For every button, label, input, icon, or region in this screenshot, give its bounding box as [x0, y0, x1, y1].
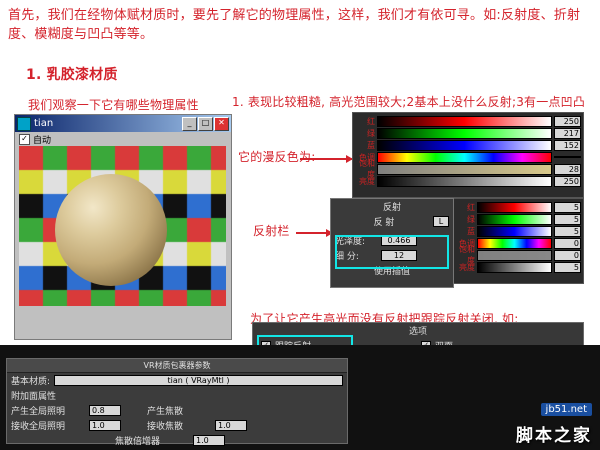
hue-gradient-bar[interactable] — [477, 238, 552, 249]
caustics-multiplier-value[interactable]: 1.0 — [193, 435, 225, 446]
vray-wrapper-header: VR材质包裹器参数 — [7, 359, 347, 373]
tutorial-intro-text: 首先，我们在经物体赋材质时，要先了解它的物理属性，这样，我们才有依可寻。如:反射… — [8, 6, 592, 44]
maximize-button[interactable]: □ — [198, 117, 213, 131]
material-editor-window[interactable]: tian _ □ ✕ ✓ 自动 — [14, 114, 232, 340]
color-row[interactable]: 绿 5 — [455, 214, 581, 224]
watermark-site: 脚本之家 — [516, 421, 592, 446]
reflect-color-panel[interactable]: 红 5 绿 5 蓝 5 色调 0 饱和度 0 亮度 5 — [452, 198, 584, 284]
value-gradient-bar[interactable] — [377, 176, 552, 187]
color-row[interactable]: 色调 — [355, 152, 581, 162]
material-icon — [17, 117, 31, 131]
blue-value[interactable]: 152 — [554, 140, 581, 151]
green-value[interactable]: 217 — [554, 128, 581, 139]
green-value[interactable]: 5 — [554, 214, 581, 225]
mode-label: 亮度 — [455, 262, 477, 273]
watermark-badge: jb51.net — [541, 403, 592, 416]
color-row[interactable]: 饱和度 28 — [355, 164, 581, 174]
brightness-value[interactable]: 5 — [554, 262, 581, 273]
tutorial-properties-text: 1. 表现比较粗糙, 高光范围较大;2基本上没什么反射;3有一点凹凸 — [232, 94, 592, 111]
green-gradient-bar[interactable] — [377, 128, 552, 139]
hue-value[interactable] — [554, 156, 581, 158]
window-titlebar[interactable]: tian _ □ ✕ — [15, 115, 231, 132]
red-value[interactable]: 250 — [554, 116, 581, 127]
window-bottom-bar — [15, 306, 231, 326]
auto-update-row[interactable]: ✓ 自动 — [15, 132, 231, 146]
color-row[interactable]: 蓝 152 — [355, 140, 581, 150]
blue-value[interactable]: 5 — [554, 226, 581, 237]
reflect-subheader: 反 射 — [335, 215, 433, 228]
generate-gi-label: 产生全局照明 — [11, 404, 89, 417]
auto-checkbox[interactable]: ✓ — [19, 134, 30, 145]
color-row[interactable]: 红 5 — [455, 202, 581, 212]
receive-gi-value[interactable]: 1.0 — [89, 420, 121, 431]
close-button[interactable]: ✕ — [214, 117, 229, 131]
reflect-rollout[interactable]: 反射 反 射 L 光泽度: 0.466 细 分: 12 使用插值 — [330, 198, 454, 288]
channel-label: 蓝 — [455, 226, 477, 237]
color-row[interactable]: 红 250 — [355, 116, 581, 126]
channel-label: 红 — [455, 202, 477, 213]
blue-gradient-bar[interactable] — [477, 226, 552, 237]
additional-surface-props-label: 附加面属性 — [11, 389, 56, 402]
color-row[interactable]: 蓝 5 — [455, 226, 581, 236]
gi-generate-row[interactable]: 产生全局照明 0.8 产生焦散 — [7, 403, 347, 418]
preview-sphere — [55, 174, 167, 286]
generate-gi-value[interactable]: 0.8 — [89, 405, 121, 416]
hue-gradient-bar[interactable] — [377, 152, 552, 163]
channel-label: 绿 — [455, 214, 477, 225]
tutorial-reflect-label: 反射栏 — [253, 222, 290, 241]
red-gradient-bar[interactable] — [377, 116, 552, 127]
arrow-reflect — [296, 232, 332, 234]
saturation-gradient-bar[interactable] — [477, 250, 552, 261]
gi-receive-row[interactable]: 接收全局照明 1.0 接收焦散 1.0 — [7, 418, 347, 433]
diffuse-color-panel[interactable]: 红 250 绿 217 蓝 152 色调 饱和度 28 亮度 250 — [352, 112, 584, 198]
tutorial-section-title: 1. 乳胶漆材质 — [26, 66, 118, 85]
color-row[interactable]: 亮度 250 — [355, 176, 581, 186]
receive-caustics-label: 接收焦散 — [147, 419, 215, 432]
tutorial-observe-text: 我们观察一下它有哪些物理属性 — [28, 96, 199, 115]
minimize-button[interactable]: _ — [182, 117, 197, 131]
generate-caustics-label: 产生焦散 — [147, 404, 215, 417]
caustics-multiplier-row[interactable]: 焦散倍增器 1.0 — [7, 433, 347, 448]
saturation-gradient-bar[interactable] — [377, 164, 552, 175]
additional-surface-props-row: 附加面属性 — [7, 388, 347, 403]
material-preview-viewport[interactable] — [19, 146, 226, 306]
base-material-row[interactable]: 基本材质: tian ( VRayMtl ) — [7, 373, 347, 388]
saturation-value[interactable]: 28 — [554, 164, 581, 175]
reflect-subheader-row[interactable]: 反 射 L — [335, 215, 449, 228]
window-title: tian — [34, 118, 181, 129]
saturation-value[interactable]: 0 — [554, 250, 581, 261]
red-gradient-bar[interactable] — [477, 202, 552, 213]
blue-gradient-bar[interactable] — [377, 140, 552, 151]
green-gradient-bar[interactable] — [477, 214, 552, 225]
color-row[interactable]: 亮度 5 — [455, 262, 581, 272]
reflect-header: 反射 — [331, 199, 453, 213]
base-material-label: 基本材质: — [11, 374, 50, 387]
base-material-value[interactable]: tian ( VRayMtl ) — [54, 375, 343, 386]
receive-gi-label: 接收全局照明 — [11, 419, 89, 432]
receive-caustics-value[interactable]: 1.0 — [215, 420, 247, 431]
vray-wrapper-panel[interactable]: VR材质包裹器参数 基本材质: tian ( VRayMtl ) 附加面属性 产… — [6, 358, 348, 444]
auto-label: 自动 — [33, 133, 51, 146]
channel-label: 蓝 — [355, 140, 377, 151]
caustics-multiplier-label: 焦散倍增器 — [115, 434, 193, 447]
channel-label: 绿 — [355, 128, 377, 139]
brightness-value[interactable]: 250 — [554, 176, 581, 187]
hue-value[interactable]: 0 — [554, 238, 581, 249]
color-row[interactable]: 饱和度 0 — [455, 250, 581, 260]
channel-label: 红 — [355, 116, 377, 127]
arrow-diffuse — [300, 158, 352, 160]
color-row[interactable]: 绿 217 — [355, 128, 581, 138]
lock-button[interactable]: L — [433, 216, 449, 227]
glossiness-highlight — [335, 235, 449, 269]
mode-label: 亮度 — [355, 176, 377, 187]
red-value[interactable]: 5 — [554, 202, 581, 213]
value-gradient-bar[interactable] — [477, 262, 552, 273]
